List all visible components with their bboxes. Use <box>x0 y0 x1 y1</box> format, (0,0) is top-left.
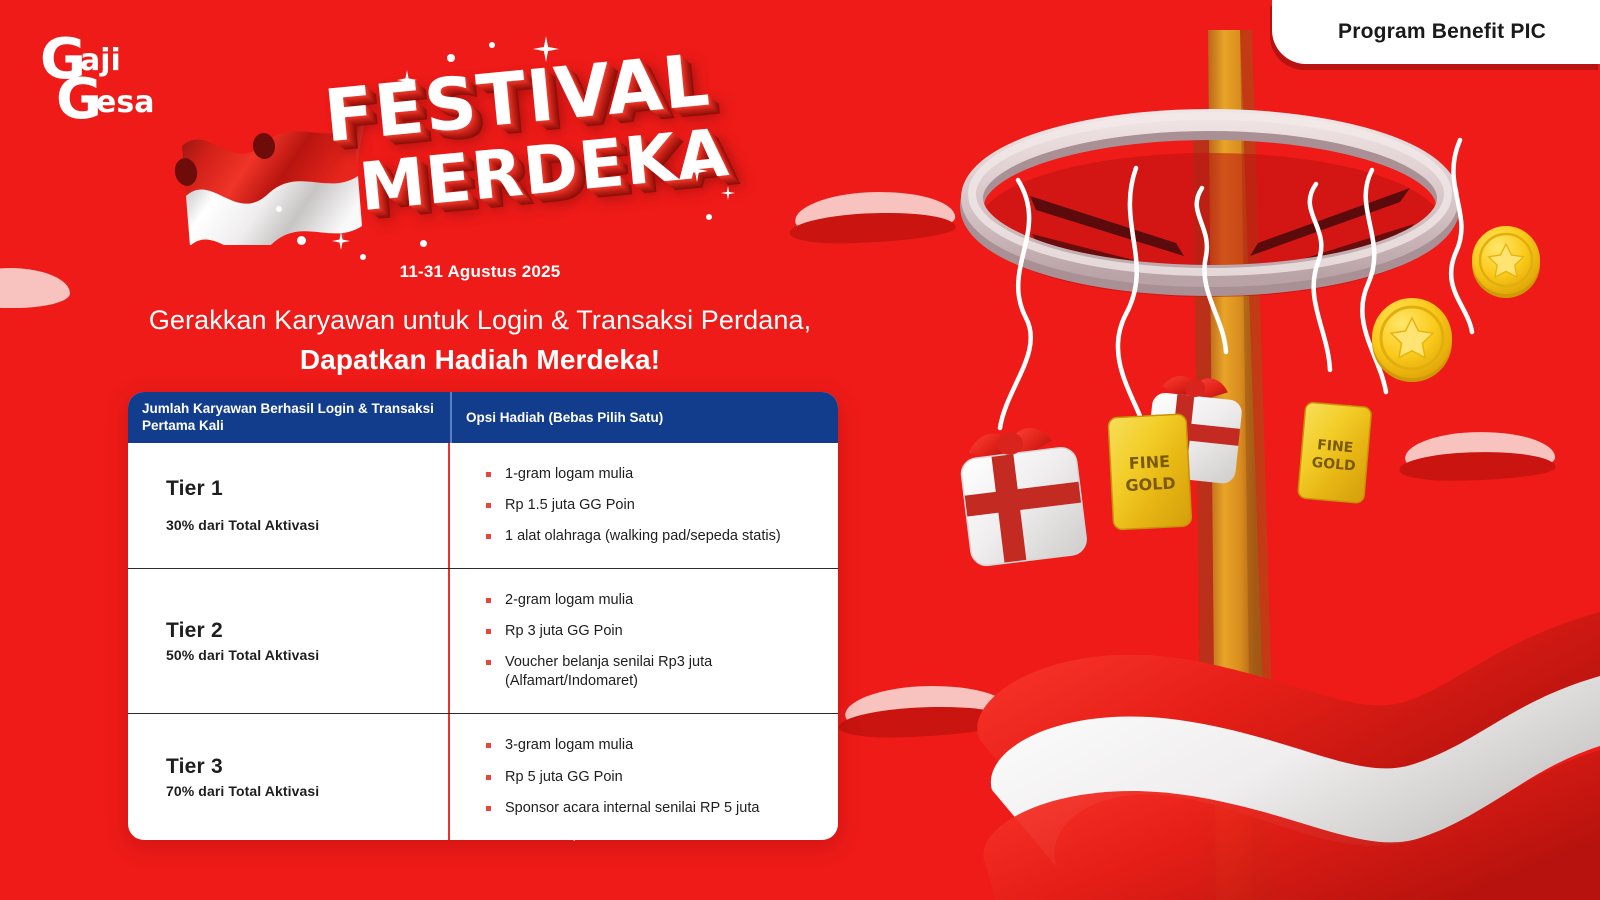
tier-prizes-cell: 1-gram logam mulia Rp 1.5 juta GG Poin 1… <box>450 443 838 568</box>
bullet-icon <box>486 534 491 539</box>
bullet-icon <box>486 743 491 748</box>
tier-requirement-cell: Tier 1 30% dari Total Aktivasi <box>128 443 450 568</box>
tier-prizes-cell: 2-gram logam mulia Rp 3 juta GG Poin Vou… <box>450 569 838 714</box>
prize-list-item: 3-gram logam mulia <box>486 730 820 761</box>
tier-name: Tier 3 <box>166 755 448 779</box>
prize-list-item: Rp 1.5 juta GG Poin <box>486 490 820 521</box>
prize-list-item: Sponsor acara internal senilai RP 5 juta <box>486 793 820 824</box>
panjat-pinang-illustration: FINE GOLD FINE GOLD <box>940 0 1600 900</box>
cloud-decoration <box>844 682 1011 737</box>
bullet-icon <box>486 598 491 603</box>
prize-text: Rp 1.5 juta GG Poin <box>505 496 635 515</box>
prize-text: 2-gram logam mulia <box>505 591 633 610</box>
cloud-decoration <box>794 188 956 242</box>
bullet-icon <box>486 660 491 665</box>
sparkle-dot-icon <box>706 214 712 220</box>
sparkle-icon <box>397 70 417 90</box>
prize-text: Sponsor acara internal senilai RP 5 juta <box>505 799 759 818</box>
sparkle-dot-icon <box>420 240 427 247</box>
tier-requirement-cell: Tier 3 70% dari Total Aktivasi <box>128 714 450 839</box>
sparkle-dot-icon <box>447 54 455 62</box>
footnote: *Berlaku untuk Perusahaan Terpilih <box>0 822 940 842</box>
prize-list-item: 1 alat olahraga (walking pad/sepeda stat… <box>486 521 820 552</box>
prize-list-item: 1-gram logam mulia <box>486 459 820 490</box>
tier-name: Tier 2 <box>166 619 448 643</box>
bullet-icon <box>486 503 491 508</box>
svg-text:GOLD: GOLD <box>1125 474 1176 496</box>
table-header-prizes: Opsi Hadiah (Bebas Pilih Satu) <box>450 392 838 443</box>
prize-list-item: Rp 5 juta GG Poin <box>486 762 820 793</box>
sparkle-dot-icon <box>276 206 282 212</box>
prize-text: Voucher belanja senilai Rp3 juta (Alfama… <box>505 653 755 691</box>
bullet-icon <box>486 629 491 634</box>
svg-text:FINE: FINE <box>1317 437 1354 456</box>
tier-requirement: 70% dari Total Aktivasi <box>166 783 448 799</box>
sparkle-icon <box>686 160 708 182</box>
sparkle-dot-icon <box>297 236 306 245</box>
prize-text: Rp 3 juta GG Poin <box>505 622 623 641</box>
prize-list-item: Voucher belanja senilai Rp3 juta (Alfama… <box>486 647 820 697</box>
tier-name: Tier 1 <box>166 477 448 501</box>
tier-requirement-cell: Tier 2 50% dari Total Aktivasi <box>128 569 450 714</box>
table-row: Tier 1 30% dari Total Aktivasi 1-gram lo… <box>128 443 838 568</box>
tier-requirement: 50% dari Total Aktivasi <box>166 647 448 663</box>
headline-line-1: Gerakkan Karyawan untuk Login & Transaks… <box>0 305 960 336</box>
cloud-decoration <box>1404 429 1555 478</box>
prize-text: 1-gram logam mulia <box>505 465 633 484</box>
badge-label: Program Benefit PIC <box>1338 20 1546 44</box>
bullet-icon <box>486 806 491 811</box>
event-date: 11-31 Agustus 2025 <box>0 262 960 282</box>
table-header-requirement: Jumlah Karyawan Berhasil Login & Transak… <box>128 392 450 443</box>
table-row: Tier 3 70% dari Total Aktivasi 3-gram lo… <box>128 713 838 839</box>
tier-prizes-cell: 3-gram logam mulia Rp 5 juta GG Poin Spo… <box>450 714 838 839</box>
table-header-row: Jumlah Karyawan Berhasil Login & Transak… <box>128 392 838 443</box>
prize-text: 3-gram logam mulia <box>505 736 633 755</box>
svg-text:FINE: FINE <box>1128 452 1170 473</box>
headline-line-2: Dapatkan Hadiah Merdeka! <box>0 344 960 376</box>
tier-requirement: 30% dari Total Aktivasi <box>166 517 448 533</box>
gajigesa-logo: G aji G esa <box>38 26 188 126</box>
bullet-icon <box>486 472 491 477</box>
headline: Gerakkan Karyawan untuk Login & Transaks… <box>0 305 960 376</box>
prize-text: 1 alat olahraga (walking pad/sepeda stat… <box>505 527 781 546</box>
sparkle-icon <box>332 232 350 250</box>
bullet-icon <box>486 775 491 780</box>
prize-list-item: 2-gram logam mulia <box>486 585 820 616</box>
sparkle-icon <box>533 36 559 62</box>
prize-tier-table: Jumlah Karyawan Berhasil Login & Transak… <box>128 392 838 840</box>
promo-poster: FINE GOLD FINE GOLD <box>0 0 1600 900</box>
table-row: Tier 2 50% dari Total Aktivasi 2-gram lo… <box>128 568 838 714</box>
program-benefit-badge: Program Benefit PIC <box>1272 0 1600 64</box>
svg-text:GOLD: GOLD <box>1311 455 1356 475</box>
sparkle-dot-icon <box>380 96 387 103</box>
sparkle-icon <box>721 186 735 200</box>
sparkle-dot-icon <box>489 42 495 48</box>
prize-list-item: Rp 3 juta GG Poin <box>486 616 820 647</box>
sparkle-dot-icon <box>360 254 366 260</box>
prize-text: Rp 5 juta GG Poin <box>505 768 623 787</box>
logo-esa: esa <box>96 85 154 120</box>
